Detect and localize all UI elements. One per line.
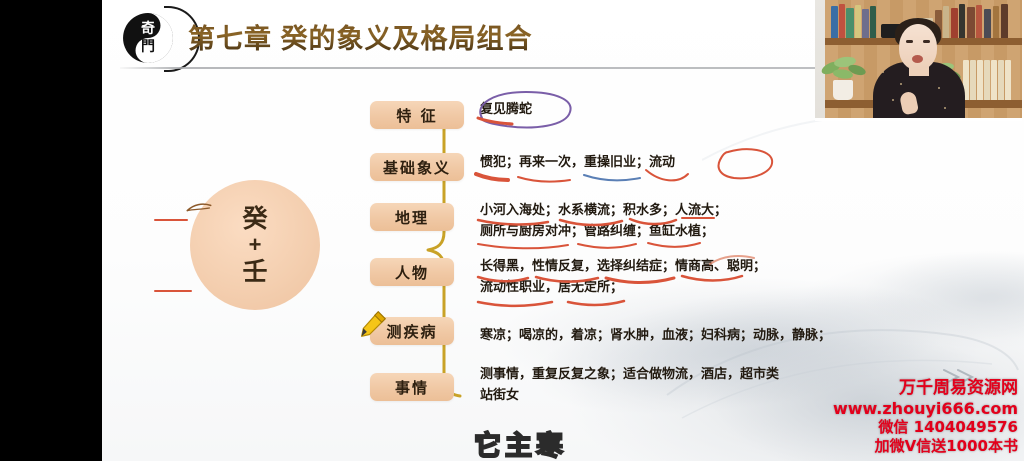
tag-matters[interactable]: 事情 [370,373,454,401]
subject-circle: 癸 + 壬 [190,180,320,310]
annotation-circle-liudong [714,144,776,184]
page-title: 第七章 癸的象义及格局组合 [188,17,533,56]
video-book [976,5,982,38]
video-book [998,60,1004,100]
bottom-caption: 它主寒 [474,424,567,461]
presenter-eye [906,40,913,43]
content-line: 测事情，重复反复之象；适合做物流，酒店，超市类 [480,364,779,385]
tag-geography[interactable]: 地理 [370,203,454,231]
video-book [970,60,976,100]
screen: 奇 門 第七章 癸的象义及格局组合 癸 + 壬 特 征 [0,0,1024,461]
annotation-underline [154,290,192,292]
content-line: 小河入海处；水系横流；积水多；人流大； [480,200,727,221]
video-book [943,6,949,38]
content-line: 复见腾蛇 [480,102,532,117]
watermark-line-1: 万千周易资源网 [833,378,1018,399]
circle-plus-sign: + [249,234,262,256]
video-book [993,6,999,38]
content-matters: 测事情，重复反复之象；适合做物流，酒店，超市类 站街女 [480,364,779,406]
content-line: 长得黑，性情反复，选择纠结症；情商高、聪明； [480,256,766,277]
presenter-video-overlay[interactable] [815,0,1022,121]
presenter-eye [923,40,930,43]
watermark-line-4: 加微V信送1000本书 [833,437,1018,455]
video-book [870,6,876,38]
content-characteristics: 复见腾蛇 [480,99,532,120]
video-book [1005,60,1011,100]
watermark: 万千周易资源网 www.zhouyi666.com 微信 1404049576 … [833,378,1018,455]
circle-char-gui: 癸 [242,206,267,231]
video-book [1001,4,1008,38]
watermark-line-2: www.zhouyi666.com [833,399,1018,419]
content-illness: 寒凉；喝凉的，着凉；肾水肿，血液；妇科病；动脉，静脉； [480,325,831,346]
video-book [839,4,845,38]
watermark-line-3: 微信 1404049576 [833,418,1018,436]
circle-char-ren: 壬 [242,259,267,284]
video-book [831,6,838,38]
video-plant-pot [833,80,853,100]
content-person: 长得黑，性情反复，选择纠结症；情商高、聪明； 流动性职业，居无定所； [480,256,766,298]
content-line: 站街女 [480,385,779,406]
video-book [977,60,983,100]
video-book [967,7,975,38]
video-plant-leaves [821,52,867,82]
video-book [855,5,861,38]
video-book [959,4,965,38]
content-line: 流动性职业，居无定所； [480,277,766,298]
video-book [862,9,869,38]
content-geography: 小河入海处；水系横流；积水多；人流大； 厕所与厨房对冲；管路纠缠；鱼缸水植； [480,200,727,242]
video-book [951,8,958,38]
background-swirl [862,250,1024,340]
content-line: 寒凉；喝凉的，着凉；肾水肿，血液；妇科病；动脉，静脉； [480,328,831,343]
video-book [846,8,854,38]
logo-char-men: 門 [141,40,155,54]
video-book [991,60,997,100]
presenter-face [899,24,937,70]
tag-person[interactable]: 人物 [370,258,454,286]
tag-characteristics[interactable]: 特 征 [370,101,464,129]
presenter-mouth [912,55,923,63]
tag-illness[interactable]: 测疾病 [370,317,454,345]
content-basic-meaning: 惯犯；再来一次，重操旧业；流动 [480,152,675,173]
curly-brace [424,100,466,400]
content-line: 惯犯；再来一次，重操旧业；流动 [480,155,675,170]
video-book [984,60,990,100]
logo-char-qi: 奇 [141,22,155,36]
tag-basic-meaning[interactable]: 基础象义 [370,153,464,181]
annotation-underline [154,219,188,221]
video-book [984,9,991,38]
content-line: 厕所与厨房对冲；管路纠缠；鱼缸水植； [480,221,727,242]
